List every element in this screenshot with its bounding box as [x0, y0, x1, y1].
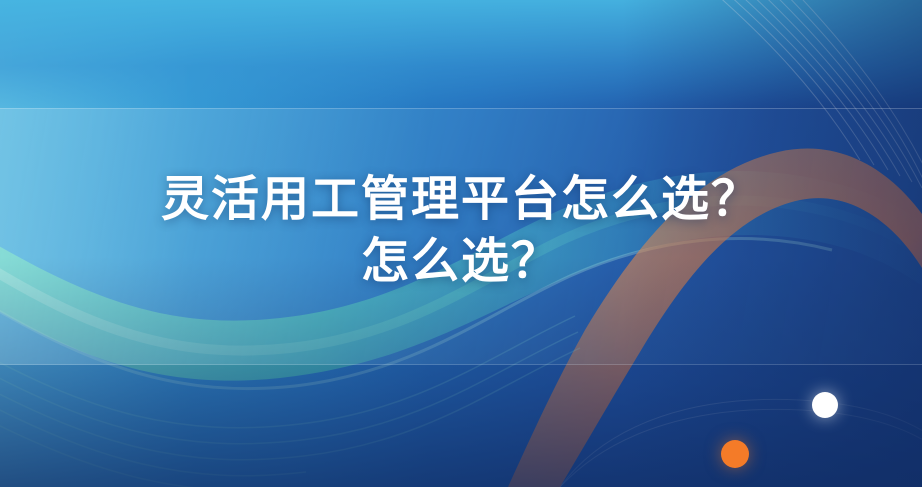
- banner-title: 灵活用工管理平台怎么选？ 怎么选？: [0, 168, 922, 292]
- orange-dot-decoration: [721, 440, 749, 468]
- banner-title-line-1: 灵活用工管理平台怎么选？: [40, 168, 882, 230]
- banner-title-line-2: 怎么选？: [40, 230, 882, 292]
- white-dot-decoration: [812, 392, 838, 418]
- promo-banner: 灵活用工管理平台怎么选？ 怎么选？: [0, 0, 922, 487]
